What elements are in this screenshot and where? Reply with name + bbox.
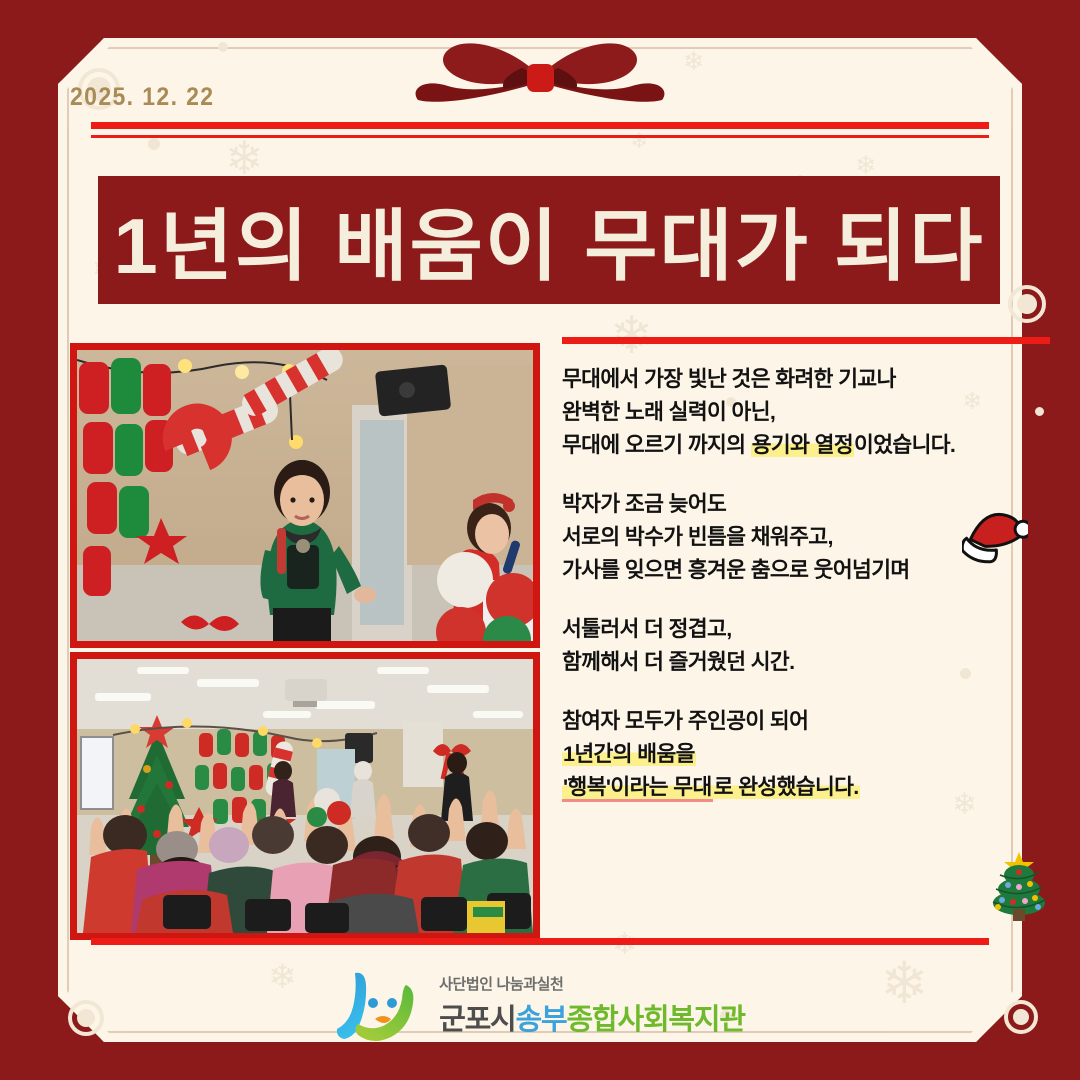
organization-logo-icon bbox=[335, 967, 421, 1043]
body-line: '행복'이라는 무대로 완성했습니다. bbox=[562, 771, 1050, 804]
ribbon-bow-icon bbox=[404, 34, 676, 110]
body-paragraph: 서툴러서 더 정겹고,함께해서 더 즐거웠던 시간. bbox=[562, 613, 1050, 679]
body-text: 서로의 박수가 빈틈을 채워주고, bbox=[562, 525, 833, 549]
date-label: 2025. 12. 22 bbox=[70, 83, 214, 112]
body-text: 완벽한 노래 실력이 아닌, bbox=[562, 400, 775, 424]
organization-title: 군포시송부종합사회복지관 bbox=[439, 996, 745, 1038]
body-paragraph: 무대에서 가장 빛난 것은 화려한 기교나완벽한 노래 실력이 아닌,무대에 오… bbox=[562, 363, 1050, 462]
organization-title-part: 송부 bbox=[516, 1004, 567, 1036]
divider-bottom bbox=[91, 938, 989, 945]
body-text-column: 무대에서 가장 빛난 것은 화려한 기교나완벽한 노래 실력이 아닌,무대에 오… bbox=[562, 363, 1050, 830]
footer-logo: 사단법인 나눔과실천 군포시송부종합사회복지관 bbox=[0, 960, 1080, 1050]
title-banner: 1년의 배움이 무대가 되다 bbox=[98, 176, 1000, 304]
body-text: 참여자 모두가 주인공이 되어 bbox=[562, 709, 808, 733]
photo-singer-on-stage bbox=[70, 343, 540, 648]
poster-root: ❄ ❄ ❄ ❄ ❄ ❄ ❄ ❄ ❄ ❄ ❄ ❄ 2025. 12. 22 1년의… bbox=[0, 0, 1080, 1080]
organization-title-part: 군포시 bbox=[439, 1004, 515, 1036]
body-paragraph: 참여자 모두가 주인공이 되어1년간의 배움을'행복'이라는 무대로 완성했습니… bbox=[562, 705, 1050, 804]
body-line: 무대에서 가장 빛난 것은 화려한 기교나 bbox=[562, 363, 1050, 396]
body-line: 참여자 모두가 주인공이 되어 bbox=[562, 705, 1050, 738]
organization-title-part: 종합사회복지관 bbox=[567, 1004, 745, 1036]
body-line: 1년간의 배움을 bbox=[562, 738, 1050, 771]
divider-top-thick bbox=[91, 122, 989, 129]
highlighted-text: 1년간의 배움을 bbox=[562, 742, 696, 766]
organization-name-block: 사단법인 나눔과실천 군포시송부종합사회복지관 bbox=[439, 973, 745, 1038]
organization-subtitle: 사단법인 나눔과실천 bbox=[439, 973, 745, 994]
highlighted-text: 로 완성했습니다. bbox=[713, 775, 860, 799]
highlighted-text: '행복'이라는 무대 bbox=[562, 775, 713, 802]
body-text: 가사를 잊으면 흥겨운 춤으로 웃어넘기며 bbox=[562, 558, 910, 582]
highlighted-text: 용기와 열정 bbox=[751, 433, 854, 457]
body-line: 함께해서 더 즐거웠던 시간. bbox=[562, 646, 1050, 679]
body-text: 함께해서 더 즐거웠던 시간. bbox=[562, 650, 794, 674]
christmas-tree-icon bbox=[988, 845, 1050, 923]
santa-hat-icon bbox=[962, 505, 1028, 571]
body-text: 무대에서 가장 빛난 것은 화려한 기교나 bbox=[562, 367, 896, 391]
photo-audience-clapping bbox=[70, 652, 540, 940]
body-text: 서툴러서 더 정겹고, bbox=[562, 617, 732, 641]
page-title: 1년의 배움이 무대가 되다 bbox=[113, 184, 984, 296]
body-text: 이었습니다. bbox=[854, 433, 955, 457]
body-line: 완벽한 노래 실력이 아닌, bbox=[562, 396, 1050, 429]
body-text: 박자가 조금 늦어도 bbox=[562, 492, 726, 516]
body-line: 무대에 오르기 까지의 용기와 열정이었습니다. bbox=[562, 429, 1050, 462]
body-text: 무대에 오르기 까지의 bbox=[562, 433, 751, 457]
body-line: 서툴러서 더 정겹고, bbox=[562, 613, 1050, 646]
divider-content-top bbox=[562, 337, 1050, 344]
divider-top-thin bbox=[91, 135, 989, 138]
